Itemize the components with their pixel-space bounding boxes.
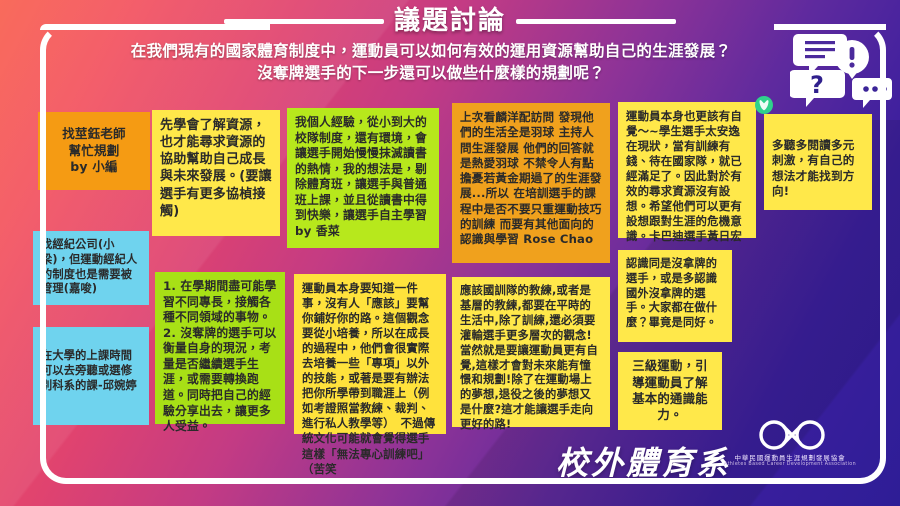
sticky-note-text: 運動員本身要知道一件事，沒有人「應該」要幫你鋪好你的路。這個觀念要從小培養，所以… xyxy=(302,281,435,476)
title-row: 議題討論 xyxy=(0,6,900,36)
sticky-note-text: 多聽多閱讀多元刺激，有自己的想法才能找到方向! xyxy=(772,138,855,198)
title-rule-left xyxy=(224,19,384,24)
sticky-note-text: 上次看麟洋配訪問 發現他們的生活全是羽球 主持人問生涯發展 他們的回答就是熱愛羽… xyxy=(460,110,602,246)
sticky-note-text: 應該國訓隊的教練,或者是基層的教練,都要在平時的生活中,除了訓練,還必須要灌輸選… xyxy=(460,284,598,431)
svg-text:?: ? xyxy=(810,71,824,99)
title-rule-right xyxy=(516,19,676,24)
sticky-note-numbered-points[interactable]: 1. 在學期間盡可能學習不同專長，接觸各種不同領域的事物。2. 沒奪牌的選手可以… xyxy=(155,272,285,424)
sticky-note-coach-mindset[interactable]: 應該國訓隊的教練,或者是基層的教練,都要在平時的生活中,除了訓練,還必須要灌輸選… xyxy=(452,277,610,427)
sticky-note-learn-resources[interactable]: 先學會了解資源，也才能尋求資源的協助幫助自己成長與未來發展。(要讓選手有更多協楨… xyxy=(152,110,280,236)
sticky-note-three-level-sports[interactable]: 三級運動，引導運動員了解基本的通識能力。 xyxy=(618,352,722,430)
logo-name-en: Athletes Based Career Development Associ… xyxy=(698,462,882,467)
sticky-note-university-class[interactable]: 在大學的上課時間可以去旁聽或選修別科系的課-邱婉婷 xyxy=(33,327,149,425)
poster-canvas: 議題討論 在我們現有的國家體育制度中，運動員可以如何有效的運用資源幫助自己的生涯… xyxy=(0,0,900,506)
sticky-note-know-others[interactable]: 認識同是沒拿牌的選手，或是多認識國外沒拿牌的選手。大家都在做什麼？畢竟是同好。 xyxy=(618,250,732,342)
sticky-note-text: 找莖鈺老師幫忙規劃by 小編 xyxy=(46,126,142,176)
poster-frame-top-left xyxy=(40,24,270,30)
sticky-note-listen-read[interactable]: 多聽多閱讀多元刺激，有自己的想法才能找到方向! xyxy=(764,114,872,210)
sticky-note-self-awareness[interactable]: 運動員本身也更該有自覺～~學生選手太安逸在現狀，當有訓練有錢、待在國家隊，就已經… xyxy=(618,102,756,238)
green-dot-marker xyxy=(755,96,773,114)
page-title: 議題討論 xyxy=(394,6,506,36)
sticky-note-rose-chao[interactable]: 上次看麟洋配訪問 發現他們的生活全是羽球 主持人問生涯發展 他們的回答就是熱愛羽… xyxy=(452,103,610,263)
sticky-note-text: 認識同是沒拿牌的選手，或是多認識國外沒拿牌的選手。大家都在做什麼？畢竟是同好。 xyxy=(626,257,717,329)
sticky-note-find-teacher[interactable]: 找莖鈺老師幫忙規劃by 小編 xyxy=(38,112,150,190)
subtitle: 在我們現有的國家體育制度中，運動員可以如何有效的運用資源幫助自己的生涯發展？ 沒… xyxy=(46,40,816,84)
sticky-note-no-one-should[interactable]: 運動員本身要知道一件事，沒有人「應該」要幫你鋪好你的路。這個觀念要從小培養，所以… xyxy=(294,274,446,434)
subtitle-line-2: 沒奪牌選手的下一步還可以做些什麼樣的規劃呢？ xyxy=(46,62,816,84)
infinity-logo-icon xyxy=(754,420,830,450)
sticky-note-text: 在大學的上課時間可以去旁聽或選修別科系的課-邱婉婷 xyxy=(41,349,137,392)
sticky-note-text: 運動員本身也更該有自覺～~學生選手太安逸在現狀，當有訓練有錢、待在國家隊，就已經… xyxy=(626,109,742,243)
header: 議題討論 在我們現有的國家體育制度中，運動員可以如何有效的運用資源幫助自己的生涯… xyxy=(0,0,900,96)
sticky-note-text: 1. 在學期間盡可能學習不同專長，接觸各種不同領域的事物。2. 沒奪牌的選手可以… xyxy=(163,279,276,433)
poster-frame-top-right xyxy=(774,24,886,30)
association-logo: 中華民國運動員生涯規劃發展協會 Athletes Based Career De… xyxy=(698,420,882,482)
sticky-note-agency-company[interactable]: 找經紀公司(小梁)，但運動經紀人的制度也是需要被管理(嘉唆) xyxy=(33,231,149,305)
sticky-note-text: 我個人經驗，從小到大的校隊制度，還有環境，會讓選手開始慢慢抹滅讀書的熱情，我的想… xyxy=(295,115,427,238)
subtitle-line-1: 在我們現有的國家體育制度中，運動員可以如何有效的運用資源幫助自己的生涯發展？ xyxy=(46,40,816,62)
logo-name-cn: 中華民國運動員生涯規劃發展協會 xyxy=(698,452,882,462)
sticky-note-text: 先學會了解資源，也才能尋求資源的協助幫助自己成長與未來發展。(要讓選手有更多協楨… xyxy=(160,118,272,219)
sticky-note-text: 三級運動，引導運動員了解基本的通識能力。 xyxy=(626,358,714,424)
sticky-note-text: 找經紀公司(小梁)，但運動經紀人的制度也是需要被管理(嘉唆) xyxy=(41,238,137,295)
sticky-note-personal-experience[interactable]: 我個人經驗，從小到大的校隊制度，還有環境，會讓選手開始慢慢抹滅讀書的熱情，我的想… xyxy=(287,108,439,248)
speech-bubbles-icon: ? xyxy=(790,26,894,108)
